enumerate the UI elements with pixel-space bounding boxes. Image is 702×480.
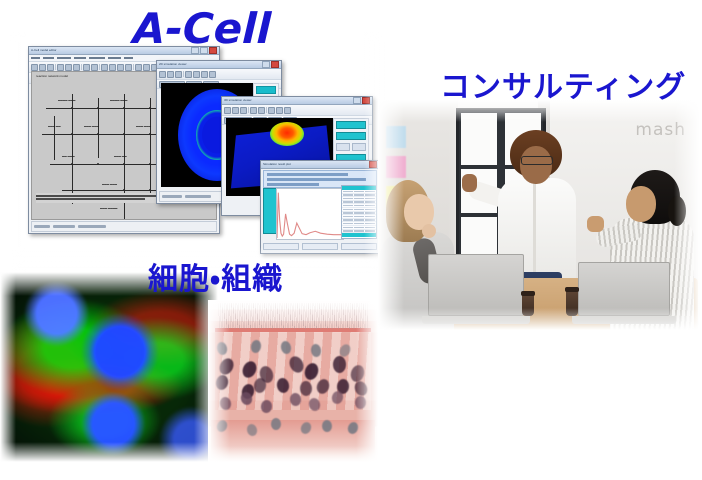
rotate-icon[interactable] [224, 107, 231, 114]
paste-icon[interactable] [73, 64, 80, 71]
toolbar[interactable] [157, 69, 281, 80]
window-controls[interactable] [262, 61, 279, 68]
laptop-left [428, 254, 524, 324]
menu-simulation[interactable] [89, 57, 105, 59]
menu-help[interactable] [124, 57, 133, 59]
new-icon[interactable] [31, 64, 38, 71]
titlebar[interactable]: Simulation result plot [261, 161, 379, 169]
laptop-right [578, 262, 670, 324]
pan-icon[interactable] [232, 107, 239, 114]
open-icon[interactable] [39, 64, 46, 71]
consulting-meeting-photo: mash [378, 100, 700, 330]
grid-icon[interactable] [135, 64, 142, 71]
colormap-icon[interactable] [185, 71, 192, 78]
menu-edit[interactable] [43, 57, 54, 59]
settings-icon[interactable] [209, 71, 216, 78]
cell-nucleus [271, 418, 281, 430]
plot-side-controls[interactable] [263, 188, 277, 234]
window-title: 3D simulation viewer [224, 97, 352, 104]
cell-nucleus [333, 356, 346, 373]
window-title: Simulation result plot [263, 161, 368, 168]
plot-button[interactable] [341, 243, 377, 250]
control-button[interactable] [336, 132, 366, 140]
plot-area [276, 188, 344, 240]
window-controls[interactable] [353, 97, 370, 104]
coffee-cup [566, 290, 578, 316]
colormap-icon[interactable] [268, 107, 275, 114]
page-title: A-Cell [132, 4, 272, 53]
sticky-note-pink [386, 156, 406, 178]
undo-icon[interactable] [83, 64, 90, 71]
play-icon[interactable] [159, 71, 166, 78]
wall-logo-text: mash [635, 120, 686, 140]
slide-canvas: A-Cell コンサルティング 細胞・組織 A-Cell model edito… [0, 0, 702, 480]
window-title: 2D simulation viewer [159, 61, 261, 68]
canvas-caption: reaction network model [36, 74, 68, 78]
plot-button[interactable] [263, 243, 299, 250]
window-controls[interactable] [369, 161, 377, 168]
axis-icon[interactable] [276, 107, 283, 114]
stop-icon[interactable] [258, 107, 265, 114]
histology-section-image [208, 300, 378, 462]
close-icon[interactable] [362, 97, 370, 104]
minimize-icon[interactable] [262, 61, 270, 68]
label-consulting: コンサルティング [440, 62, 686, 106]
close-icon[interactable] [271, 61, 279, 68]
toolbar[interactable] [222, 105, 372, 116]
fluorescence-microscopy-image [0, 272, 218, 462]
close-icon[interactable] [369, 161, 377, 168]
zoom-out-icon[interactable] [109, 64, 116, 71]
table-footer [342, 233, 376, 237]
save-icon[interactable] [47, 64, 54, 71]
control-small[interactable] [336, 143, 350, 151]
coffee-cup [522, 294, 534, 316]
time-course-curve [277, 189, 343, 239]
menu-view[interactable] [57, 57, 71, 59]
pause-icon[interactable] [167, 71, 174, 78]
light-icon[interactable] [284, 107, 291, 114]
software-collage: A-Cell model editor [18, 40, 378, 265]
menu-model[interactable] [74, 57, 86, 59]
run-icon[interactable] [117, 64, 124, 71]
control-small[interactable] [352, 143, 366, 151]
copy-icon[interactable] [65, 64, 72, 71]
cell-nucleus [260, 400, 273, 414]
menu-tools[interactable] [108, 57, 121, 59]
sticky-note-blue [386, 126, 406, 148]
redo-icon[interactable] [91, 64, 98, 71]
titlebar[interactable]: 3D simulation viewer [222, 97, 372, 105]
titlebar[interactable]: 2D simulation viewer [157, 61, 281, 69]
cilia-layer [218, 303, 368, 329]
control-button[interactable] [336, 121, 366, 129]
window-time-course-plot[interactable]: Simulation result plot [260, 160, 380, 254]
plot-footer-buttons[interactable] [263, 242, 377, 251]
stop-icon[interactable] [175, 71, 182, 78]
plot-button[interactable] [302, 243, 338, 250]
menu-file[interactable] [31, 57, 40, 59]
control-button[interactable] [256, 86, 276, 94]
layout-icon[interactable] [143, 64, 150, 71]
zoom-in-icon[interactable] [101, 64, 108, 71]
stop-icon[interactable] [125, 64, 132, 71]
play-icon[interactable] [250, 107, 257, 114]
cut-icon[interactable] [57, 64, 64, 71]
export-icon[interactable] [201, 71, 208, 78]
label-cells-tissues: 細胞・組織 [148, 254, 283, 298]
statusbar [31, 221, 217, 232]
zoom-icon[interactable] [193, 71, 200, 78]
minimize-icon[interactable] [353, 97, 361, 104]
plot-data-table[interactable] [341, 185, 377, 239]
glasses-icon [521, 156, 553, 165]
zoom-icon[interactable] [240, 107, 247, 114]
